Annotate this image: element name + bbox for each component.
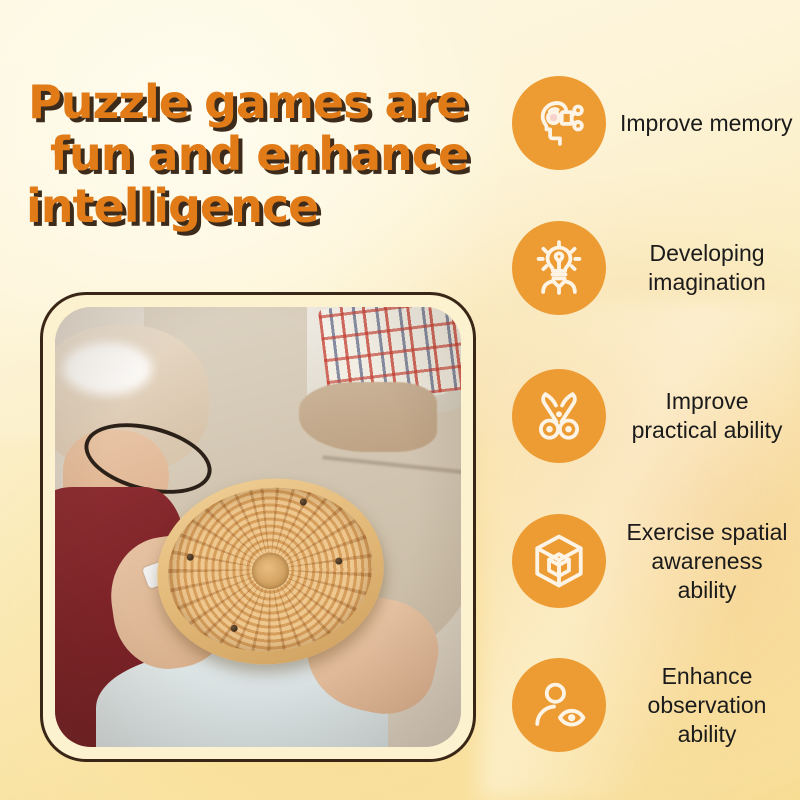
- benefit-label-line: Improve memory: [620, 109, 800, 138]
- benefit-label-line: Enhance: [614, 662, 800, 691]
- headline: Puzzle games are fun and enhance intelli…: [22, 76, 522, 232]
- maze-ball: [186, 552, 194, 560]
- headline-line-2: fun and enhance: [22, 128, 522, 180]
- lightbulb-idea-icon: [512, 221, 606, 315]
- scissors-icon: [512, 369, 606, 463]
- photo-hair-highlight: [63, 342, 152, 395]
- benefit-label: Improve practical ability: [606, 387, 800, 445]
- benefit-item-improve-memory: Improve memory: [512, 76, 800, 170]
- benefit-label: Developing imagination: [606, 239, 800, 297]
- benefit-item-enhance-observation: Enhance observation ability: [512, 658, 800, 752]
- maze-ball: [298, 498, 306, 506]
- benefit-label: Improve memory: [606, 109, 800, 138]
- maze-ball: [229, 624, 237, 632]
- headline-line-3: intelligence: [22, 180, 522, 232]
- benefit-label-line: awareness: [614, 547, 800, 576]
- head-brain-network-icon: [512, 76, 606, 170]
- maze-ball: [335, 557, 343, 565]
- benefit-item-exercise-spatial-awareness: Exercise spatial awareness ability: [512, 514, 800, 608]
- photo-maze-board: [146, 465, 394, 676]
- cube-3d-icon: [512, 514, 606, 608]
- benefit-label-line: practical ability: [614, 416, 800, 445]
- benefit-label-line: Improve: [614, 387, 800, 416]
- benefit-label-line: Exercise spatial: [614, 518, 800, 547]
- benefit-label: Enhance observation ability: [606, 662, 800, 749]
- benefit-label-line: ability: [614, 576, 800, 605]
- benefit-label-line: ability: [614, 720, 800, 749]
- person-eye-observation-icon: [512, 658, 606, 752]
- benefit-label: Exercise spatial awareness ability: [606, 518, 800, 605]
- photo-tan-blanket: [299, 382, 437, 452]
- benefit-item-improve-practical-ability: Improve practical ability: [512, 369, 800, 463]
- benefit-item-developing-imagination: Developing imagination: [512, 221, 800, 315]
- benefit-label-line: observation: [614, 691, 800, 720]
- product-photo: [55, 307, 461, 747]
- benefit-label-line: imagination: [614, 268, 800, 297]
- promo-poster: Puzzle games are fun and enhance intelli…: [0, 0, 800, 800]
- product-photo-frame: [40, 292, 476, 762]
- headline-line-1: Puzzle games are: [22, 76, 522, 128]
- benefit-label-line: Developing: [614, 239, 800, 268]
